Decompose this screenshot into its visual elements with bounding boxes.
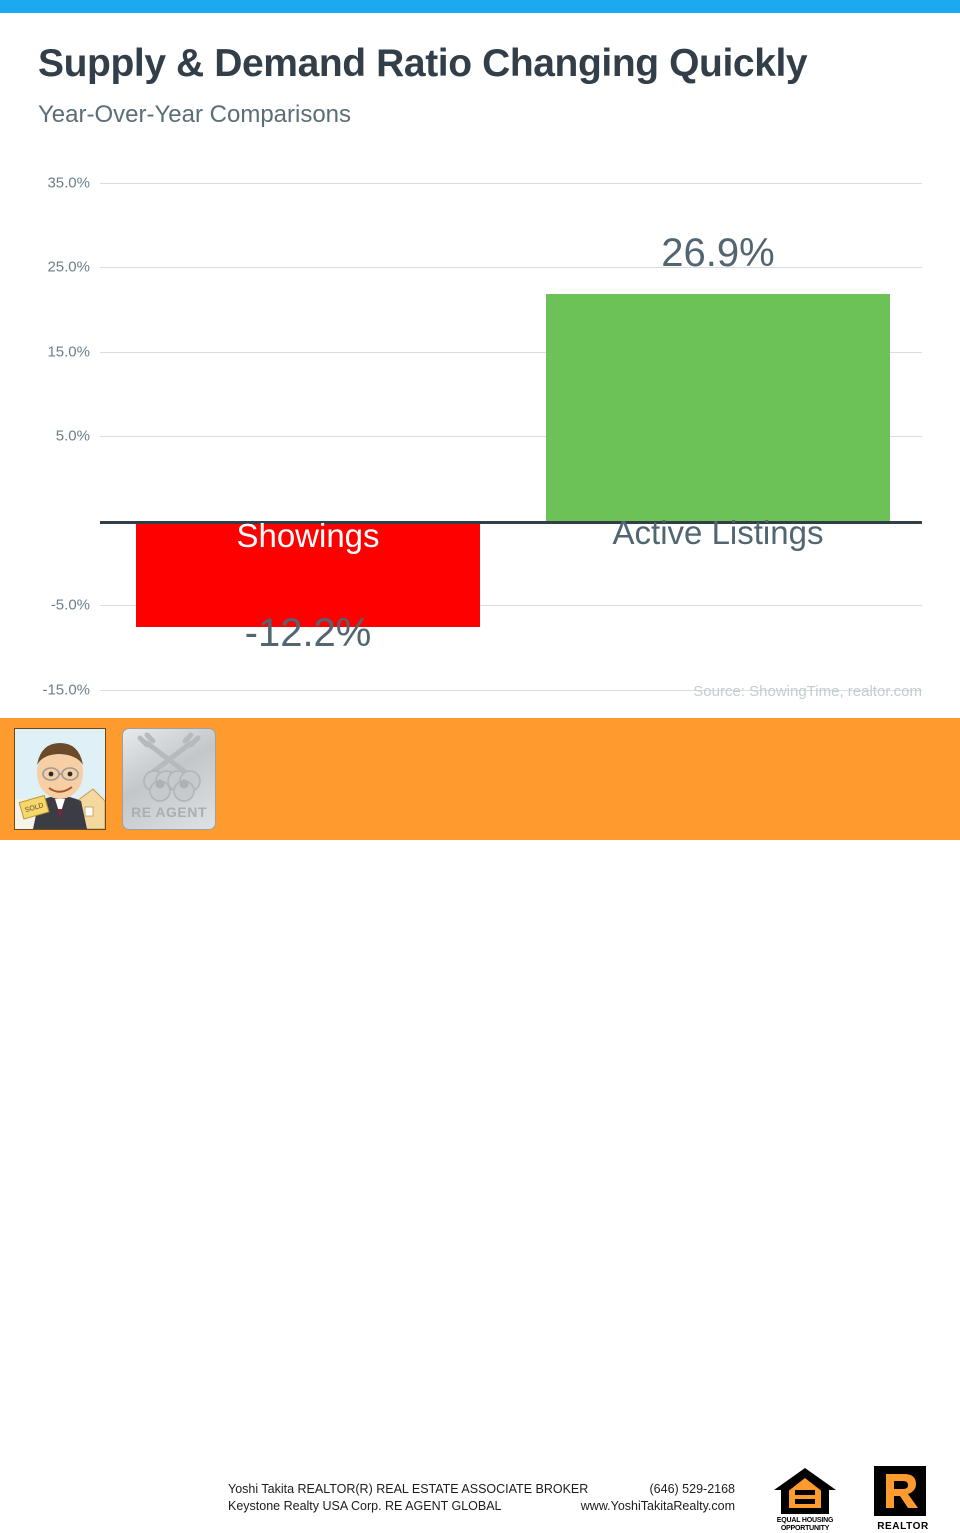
infographic-page: Supply & Demand Ratio Changing Quickly Y… <box>0 0 960 840</box>
equal-housing-icon <box>772 1466 838 1518</box>
bar-chart: 35.0% 25.0% 15.0% 5.0% -5.0% -15.0% -25.… <box>0 150 960 710</box>
ytick-label-neg15: -15.0% <box>0 682 90 699</box>
ytick-label-35: 35.0% <box>0 175 90 192</box>
category-label-active-listings: Active Listings <box>546 514 890 552</box>
crossed-keys-icon <box>123 729 215 807</box>
source-attribution: Source: ShowingTime, realtor.com <box>693 683 922 700</box>
equal-housing-label: EQUAL HOUSING OPPORTUNITY <box>766 1517 844 1533</box>
footer: SOLD <box>0 718 960 840</box>
bar-active-listings[interactable] <box>546 294 890 521</box>
caricature-illustration: SOLD <box>15 729 105 829</box>
realtor-logo: REALTOR <box>874 1466 932 1532</box>
value-label-showings: -12.2% <box>136 611 480 656</box>
ytick-label-15: 15.0% <box>0 344 90 361</box>
agent-phone[interactable]: (646) 529-2168 <box>580 1481 735 1498</box>
realtor-label: REALTOR <box>870 1521 936 1532</box>
equal-housing-line1: EQUAL HOUSING <box>777 1517 833 1524</box>
agent-avatar: SOLD <box>14 728 106 830</box>
ytick-label-neg5: -5.0% <box>0 597 90 614</box>
page-subtitle: Year-Over-Year Comparisons <box>38 101 351 129</box>
category-label-showings: Showings <box>136 517 480 555</box>
re-agent-badge: RE AGENT <box>122 728 216 830</box>
agent-contact-block: Yoshi Takita REALTOR(R) REAL ESTATE ASSO… <box>228 1481 588 1515</box>
agent-name-line: Yoshi Takita REALTOR(R) REAL ESTATE ASSO… <box>228 1481 588 1498</box>
agent-website[interactable]: www.YoshiTakitaRealty.com <box>580 1498 735 1515</box>
page-title: Supply & Demand Ratio Changing Quickly <box>38 42 807 86</box>
ytick-label-25: 25.0% <box>0 259 90 276</box>
plot-area: 35.0% 25.0% 15.0% 5.0% -5.0% -15.0% -25.… <box>100 183 922 690</box>
equal-housing-line2: OPPORTUNITY <box>781 1525 829 1532</box>
re-agent-label: RE AGENT <box>123 804 215 820</box>
value-label-active-listings: 26.9% <box>546 231 890 276</box>
realtor-r-icon <box>874 1466 926 1516</box>
equal-housing-logo: EQUAL HOUSING OPPORTUNITY <box>772 1466 838 1532</box>
agent-company-line: Keystone Realty USA Corp. RE AGENT GLOBA… <box>228 1498 588 1515</box>
top-accent-bar <box>0 0 960 13</box>
agent-contact-right-block: (646) 529-2168 www.YoshiTakitaRealty.com <box>580 1481 735 1515</box>
gridline-35 <box>100 183 922 184</box>
ytick-label-5: 5.0% <box>0 428 90 445</box>
